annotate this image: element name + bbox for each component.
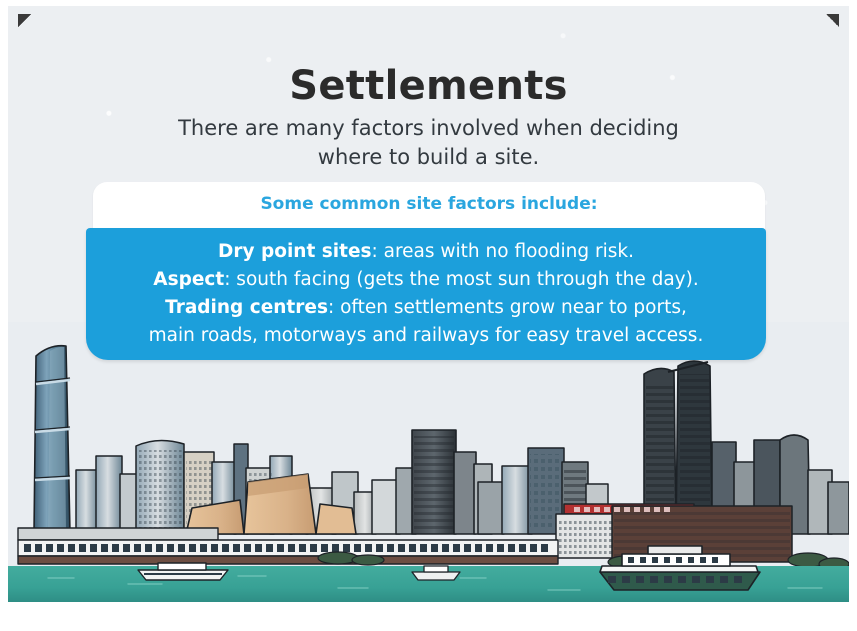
card-heading: Some common site factors include: <box>93 194 765 214</box>
factor-term-1: Dry point sites <box>218 241 371 262</box>
factors-card-header: Some common site factors include: <box>93 182 765 230</box>
factor-desc-4: main roads, motorways and railways for e… <box>149 325 704 346</box>
factor-term-3: Trading centres <box>165 297 328 318</box>
factor-line-3: Trading centres: often settlements grow … <box>96 294 756 322</box>
crop-mark-top-left <box>18 14 31 27</box>
slide: Settlements There are many factors invol… <box>8 6 849 602</box>
subtitle: There are many factors involved when dec… <box>8 114 849 172</box>
factors-list: Dry point sites: areas with no flooding … <box>96 238 756 350</box>
city-skyline-illustration <box>8 322 849 602</box>
crop-mark-top-right <box>826 14 839 27</box>
factor-term-2: Aspect <box>153 269 224 290</box>
subtitle-line-2: where to build a site. <box>8 143 849 172</box>
factor-line-2: Aspect: south facing (gets the most sun … <box>96 266 756 294</box>
factor-desc-1: : areas with no flooding risk. <box>372 241 634 262</box>
subtitle-line-1: There are many factors involved when dec… <box>8 114 849 143</box>
factor-line-1: Dry point sites: areas with no flooding … <box>96 238 756 266</box>
factors-blue-panel: Dry point sites: areas with no flooding … <box>86 228 766 360</box>
factor-line-4: main roads, motorways and railways for e… <box>96 322 756 350</box>
page-title: Settlements <box>8 63 849 109</box>
factor-desc-3: : often settlements grow near to ports, <box>328 297 687 318</box>
factor-desc-2: : south facing (gets the most sun throug… <box>224 269 699 290</box>
